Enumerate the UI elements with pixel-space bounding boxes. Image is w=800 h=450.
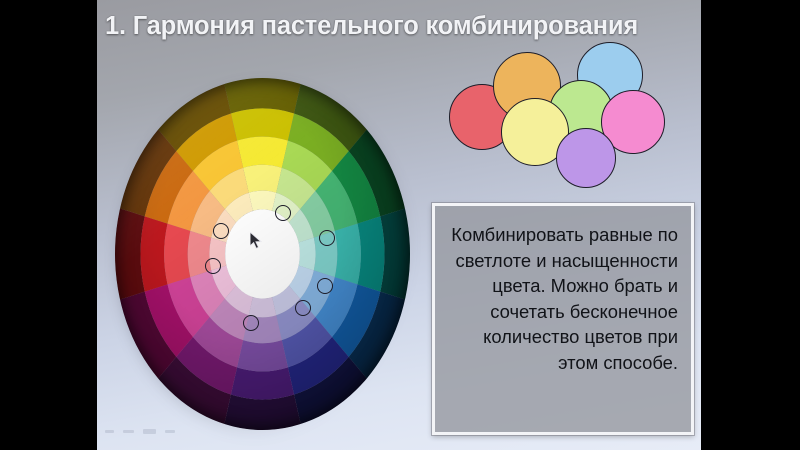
artifact-mark [143, 429, 156, 434]
wheel-sector-yellow-ring4[interactable] [243, 165, 282, 193]
artifact-mark [165, 430, 175, 433]
marker-violet[interactable] [295, 300, 311, 316]
wheel-sector-green-cyan-ring1[interactable] [380, 208, 410, 299]
color-wheel[interactable] [107, 68, 417, 438]
caption-box: Комбинировать равные по светлоте и насыщ… [432, 203, 694, 435]
player-ui-artifacts [105, 424, 225, 438]
color-wheel-svg [115, 78, 410, 430]
color-wheel-disc[interactable] [115, 78, 410, 430]
presentation-slide: 1. Гармония пастельного комбинирования [97, 0, 701, 450]
wheel-sector-yellow-ring3[interactable] [237, 137, 288, 168]
artifact-mark [105, 430, 114, 433]
wheel-sector-red-ring2[interactable] [141, 216, 168, 291]
wheel-sector-violet-ring1[interactable] [224, 395, 300, 430]
slide-title: 1. Гармония пастельного комбинирования [105, 12, 695, 41]
letterbox-bar-right [701, 0, 800, 450]
pastel-swatch-cluster [449, 42, 664, 197]
wheel-sector-red-ring3[interactable] [164, 224, 190, 285]
wheel-sector-green-cyan-ring5[interactable] [299, 238, 316, 271]
wheel-sector-yellow-ring2[interactable] [231, 109, 294, 141]
caption-text: Комбинировать равные по светлоте и насыщ… [435, 206, 691, 376]
marker-green[interactable] [319, 230, 335, 246]
wheel-sector-violet-ring3[interactable] [237, 340, 288, 371]
video-frame: 1. Гармония пастельного комбинирования [0, 0, 800, 450]
marker-yellow[interactable] [275, 205, 291, 221]
color-wheel-center [225, 209, 300, 298]
wheel-sector-green-cyan-ring2[interactable] [357, 216, 384, 291]
marker-blue[interactable] [317, 278, 333, 294]
marker-red[interactable] [205, 258, 221, 274]
wheel-sector-green-cyan-ring3[interactable] [335, 224, 361, 285]
artifact-mark [123, 430, 134, 433]
wheel-sector-red-ring1[interactable] [115, 208, 145, 299]
wheel-sector-yellow-ring1[interactable] [224, 78, 300, 113]
letterbox-bar-left [0, 0, 97, 450]
pastel-purple[interactable] [556, 128, 616, 188]
marker-magenta[interactable] [243, 315, 259, 331]
marker-orange[interactable] [213, 223, 229, 239]
wheel-sector-violet-ring2[interactable] [231, 367, 294, 399]
wheel-sector-yellow-ring5[interactable] [249, 191, 276, 211]
